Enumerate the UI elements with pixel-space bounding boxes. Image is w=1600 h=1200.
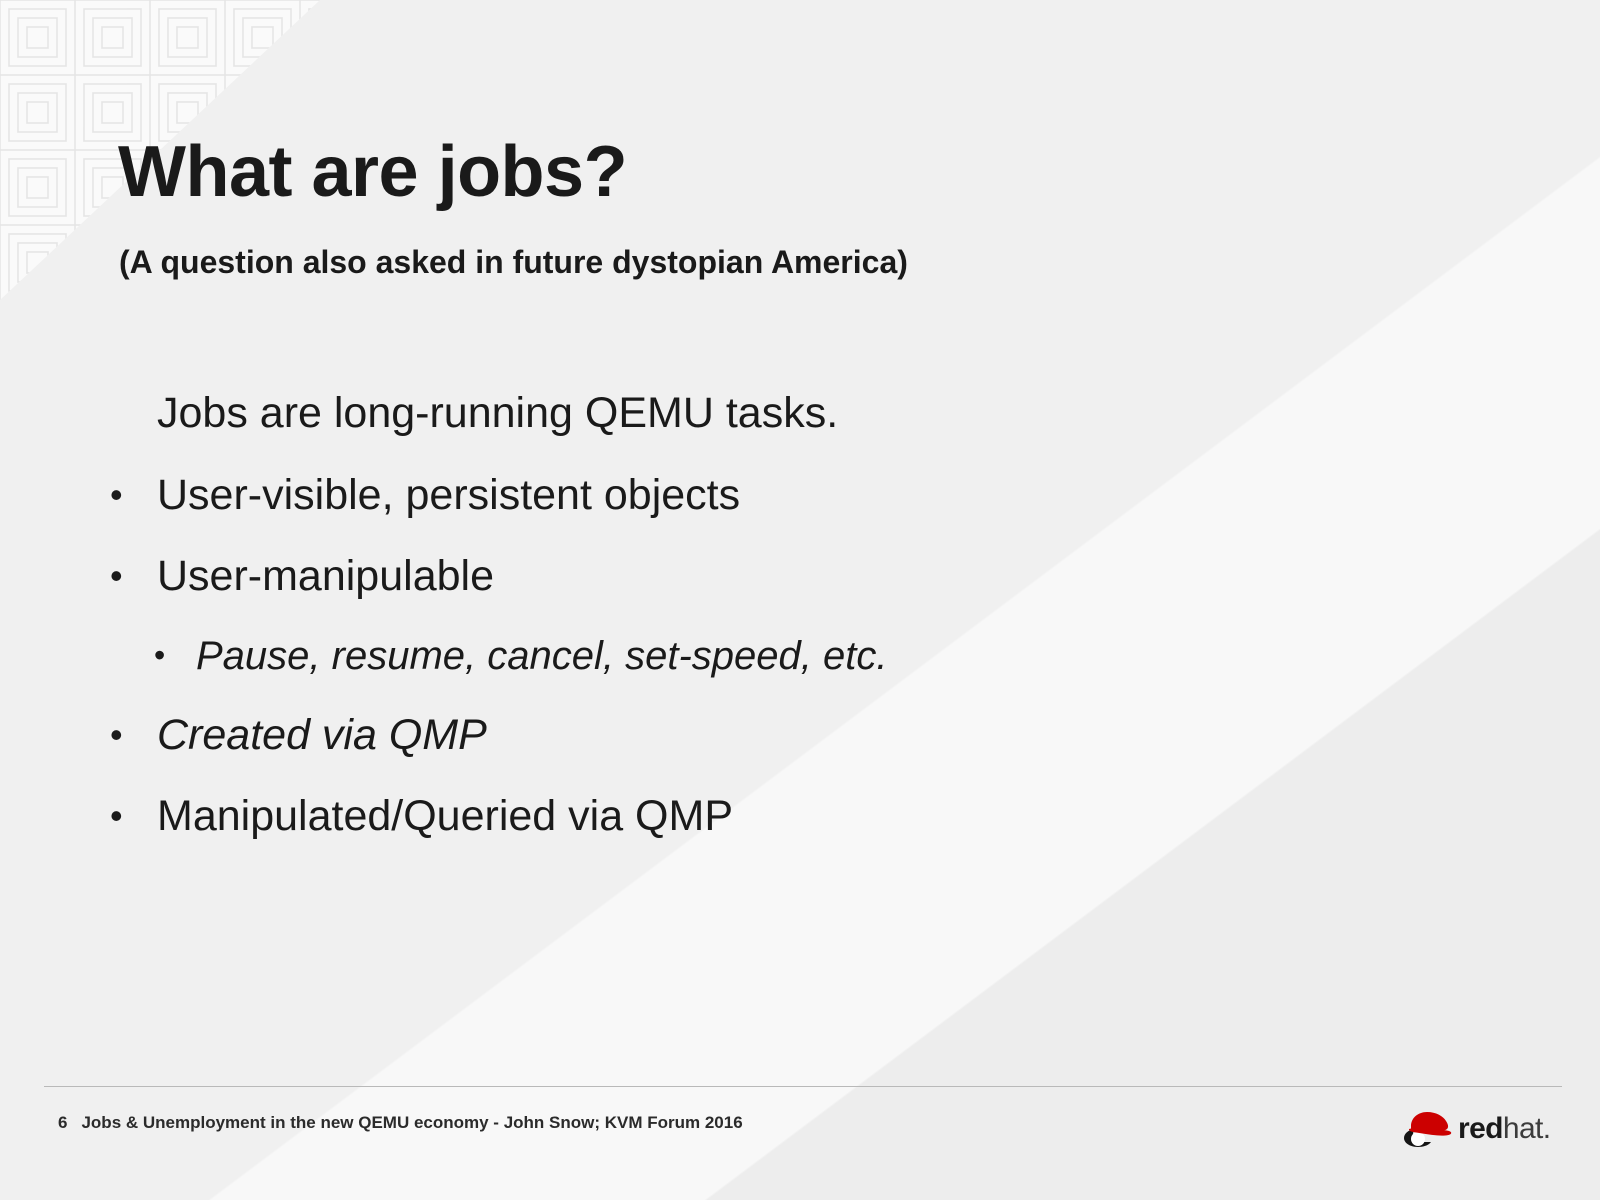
bullet-glyph: • [110,795,157,837]
bullet-list: Jobs are long-running QEMU tasks. • User… [110,392,1410,876]
bullet-glyph: • [110,714,157,756]
wordmark-red: red [1458,1112,1503,1145]
shadowman-icon [1402,1109,1454,1149]
footer-caption: Jobs & Unemployment in the new QEMU econ… [81,1113,742,1133]
list-item-text: User-manipulable [157,555,494,598]
footer-divider [44,1086,1562,1087]
list-item-nested: • Pause, resume, cancel, set-speed, etc. [154,636,1410,676]
list-item: • Manipulated/Queried via QMP [110,795,1410,838]
list-item-text: Pause, resume, cancel, set-speed, etc. [196,636,887,676]
wordmark-hat: hat. [1503,1112,1551,1145]
slide-subtitle: (A question also asked in future dystopi… [119,243,908,281]
footer: 6 Jobs & Unemployment in the new QEMU ec… [58,1113,743,1133]
list-item: • User-visible, persistent objects [110,474,1410,517]
redhat-wordmark: redhat. [1458,1114,1551,1144]
page-number: 6 [58,1113,67,1133]
list-item-text: User-visible, persistent objects [157,474,740,517]
redhat-logo: redhat. [1402,1102,1572,1156]
slide-canvas: What are jobs? (A question also asked in… [0,0,1600,1200]
list-item-text: Created via QMP [157,714,487,757]
list-item-text: Jobs are long-running QEMU tasks. [157,392,838,435]
list-item: • Created via QMP [110,714,1410,757]
list-item: Jobs are long-running QEMU tasks. [157,392,1410,435]
list-item: • User-manipulable [110,555,1410,598]
bullet-glyph: • [110,474,157,516]
bullet-glyph: • [110,555,157,597]
list-item-text: Manipulated/Queried via QMP [157,795,733,838]
slide-title: What are jobs? [118,136,627,208]
bullet-glyph: • [154,636,196,674]
